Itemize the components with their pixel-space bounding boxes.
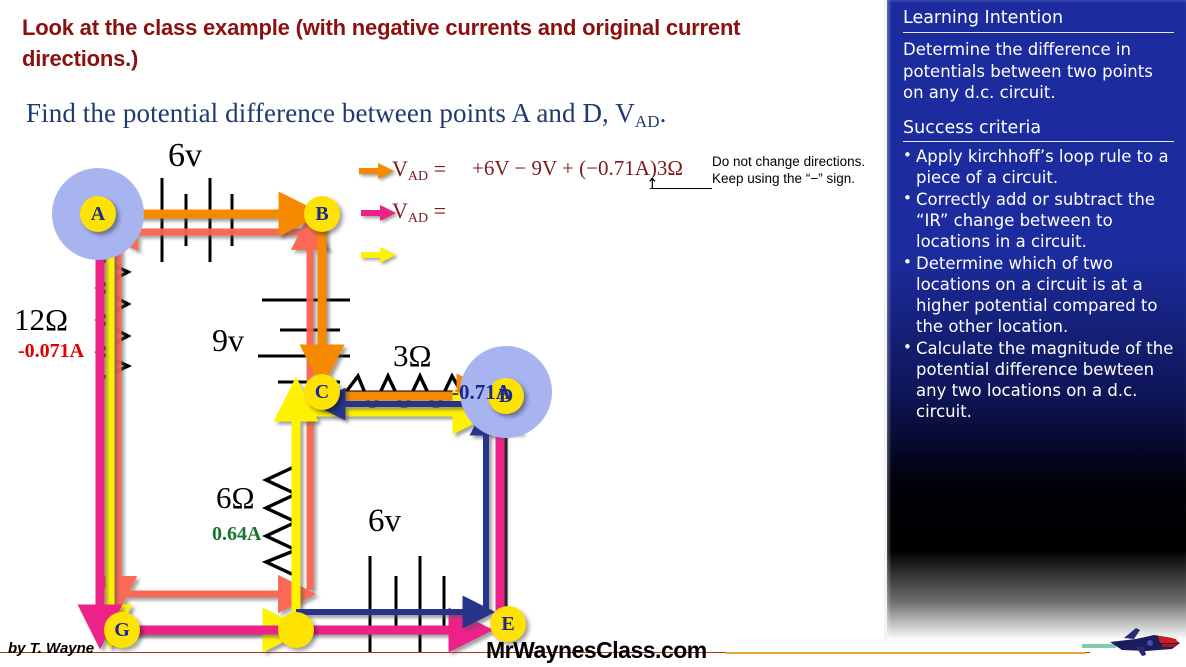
equation-1-label: V <box>392 156 408 181</box>
list-item: Calculate the magnitude of the potential… <box>903 338 1174 422</box>
resistor-label-12ohm: 12Ω <box>14 302 68 338</box>
note-caret-icon: ↑ <box>646 175 659 193</box>
list-item: Apply kirchhoff’s loop rule to a piece o… <box>903 146 1174 188</box>
site-name[interactable]: MrWaynesClass.com <box>486 637 707 664</box>
yellow-arrow-icon <box>360 244 398 266</box>
note-text: Do not change directions. Keep using the… <box>712 153 877 187</box>
resistor-label-6ohm: 6Ω <box>216 480 255 516</box>
sidebar-heading-learning-intention: Learning Intention <box>903 8 1174 33</box>
battery-label-bottom: 6v <box>368 503 401 540</box>
author-byline: by T. Wayne <box>8 640 94 657</box>
list-item: Determine which of two locations on a ci… <box>903 253 1174 337</box>
orange-arrow-icon <box>358 160 396 182</box>
circuit-node-g[interactable]: G <box>104 612 140 648</box>
current-label-12ohm: -0.071A <box>18 340 84 363</box>
current-label-3ohm: -0.71A <box>452 380 511 405</box>
circuit-node-f[interactable] <box>278 612 314 648</box>
circuit-node-b[interactable]: B <box>304 196 340 232</box>
equation-2-label: V <box>392 198 408 223</box>
battery-label-top: 6v <box>168 137 202 175</box>
slide-root: Look at the class example (with negative… <box>0 0 1186 667</box>
note-underline <box>650 188 712 189</box>
battery-label-middle: 9v <box>212 322 244 359</box>
learning-intention-panel: Learning Intention Determine the differe… <box>884 0 1186 640</box>
list-item: Correctly add or subtract the “IR” chang… <box>903 189 1174 252</box>
equation-1-subscript: AD <box>408 169 428 184</box>
success-criteria-list: Apply kirchhoff’s loop rule to a piece o… <box>903 146 1174 422</box>
equation-2-equals: = <box>428 198 446 223</box>
equation-2-subscript: AD <box>408 211 428 226</box>
equation-row-1: VAD = <box>392 156 446 185</box>
resistor-label-3ohm: 3Ω <box>393 338 432 374</box>
sidebar-heading-success-criteria: Success criteria <box>903 118 1174 142</box>
footer-divider-accent <box>726 652 1086 654</box>
circuit-node-c[interactable]: C <box>304 374 340 410</box>
equation-1-equals: = <box>428 156 446 181</box>
jet-plane-icon <box>1080 626 1184 660</box>
current-label-6ohm: 0.64A <box>212 523 261 546</box>
equation-row-2: VAD = <box>392 198 446 227</box>
circuit-node-a[interactable]: A <box>80 196 116 232</box>
sidebar-learning-intention-text: Determine the difference in potentials b… <box>903 39 1174 104</box>
